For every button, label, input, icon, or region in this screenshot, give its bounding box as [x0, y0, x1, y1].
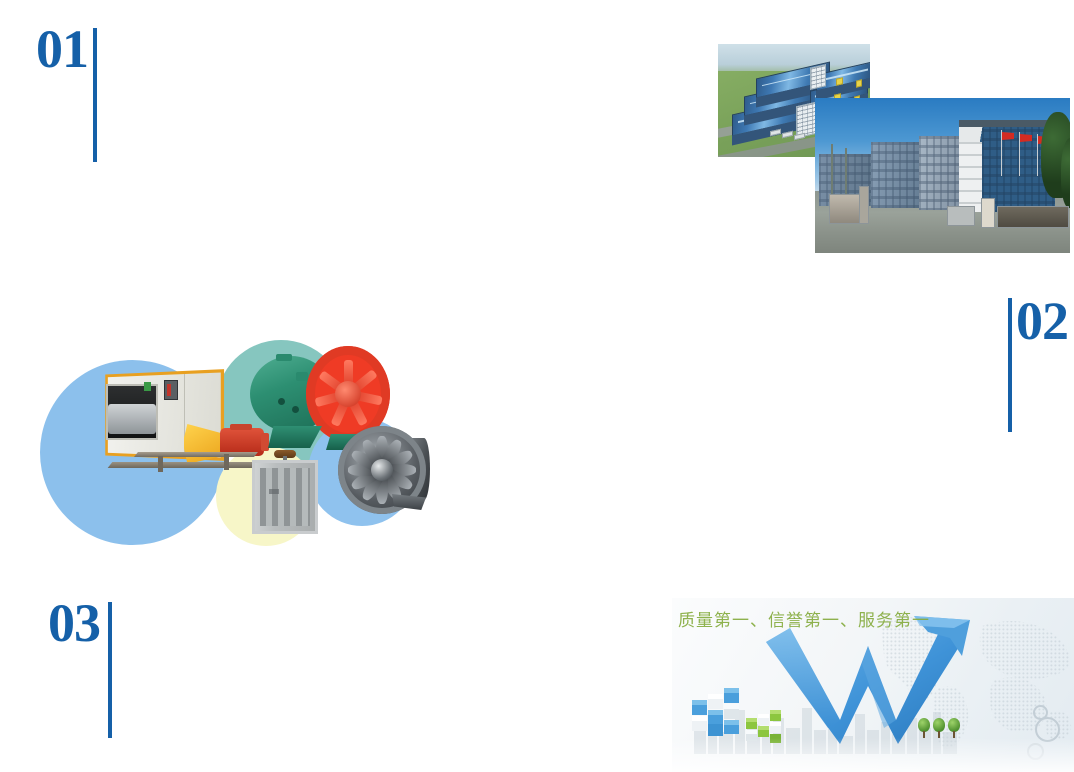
page-canvas: 01: [0, 0, 1074, 772]
left-wing-windows: [959, 142, 982, 212]
side-block: [810, 64, 826, 90]
tree-trunk: [831, 144, 833, 200]
air-damper-valve: [248, 450, 322, 538]
base-frame-rail: [134, 452, 258, 457]
damper-handle: [274, 450, 296, 458]
tree-trunk: [938, 731, 940, 738]
parked-vehicle: [947, 206, 975, 226]
office-building-photo: [815, 98, 1070, 253]
floor-reflection: [672, 738, 1074, 772]
monument-pillar: [981, 198, 995, 228]
lifting-lug: [276, 354, 292, 361]
gate-house: [829, 194, 863, 224]
tree-trunk: [923, 731, 925, 738]
section-number-03: 03: [48, 596, 100, 650]
tree-trunk: [953, 731, 955, 738]
window-grid: [871, 142, 923, 208]
growth-arrow-banner: 质量第一、信誉第一、服务第一: [672, 598, 1074, 772]
flag-pole: [1001, 130, 1002, 176]
product-collage: [30, 318, 430, 558]
metal-axial-fan: [330, 422, 434, 522]
fan-hub: [335, 381, 361, 407]
section-number-02: 02: [1016, 294, 1068, 348]
tree-icon: [948, 718, 960, 732]
flag-pole: [1019, 132, 1020, 176]
section-divider-02: [1008, 298, 1012, 432]
blue-cube-stack: [690, 680, 752, 738]
nameplate: [144, 382, 151, 391]
accent-marker: [856, 79, 862, 87]
frame-leg: [224, 454, 229, 470]
housing-port: [278, 398, 285, 405]
tree-icon: [933, 718, 945, 732]
gate-post: [859, 186, 869, 224]
fan-impeller-wheel: [108, 404, 156, 434]
section-divider-01: [93, 28, 97, 162]
housing-port: [292, 406, 299, 413]
fan-hub: [371, 459, 393, 481]
tree-trunk: [845, 148, 847, 200]
section-number-01: 01: [36, 22, 88, 76]
flag-pole: [1037, 134, 1038, 176]
tree: [1061, 138, 1070, 208]
control-box: [164, 380, 178, 400]
damper-blades: [260, 468, 310, 526]
banner-slogan: 质量第一、信誉第一、服务第一: [678, 606, 930, 631]
section-divider-03: [108, 602, 112, 738]
damper-label: [269, 489, 279, 494]
background-building: [871, 142, 923, 208]
frame-leg: [158, 456, 163, 472]
roof-cornice: [959, 120, 1055, 127]
stone-signboard: [997, 206, 1069, 228]
damper-frame: [252, 460, 318, 534]
tree-icon: [918, 718, 930, 732]
terminal-box: [296, 372, 308, 381]
mounting-foot: [268, 426, 322, 448]
cabinet-centrifugal-fan: [92, 364, 272, 484]
